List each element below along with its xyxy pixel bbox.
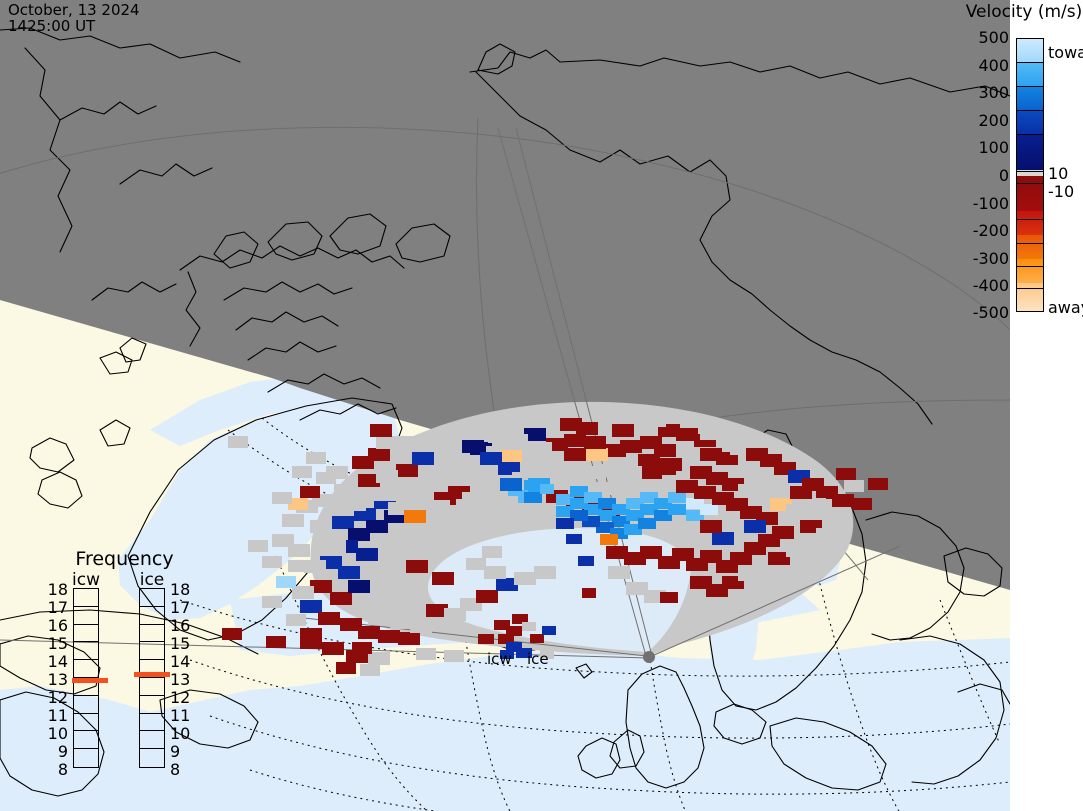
freq-tick-ice-14: 14 bbox=[170, 652, 196, 671]
cbar-divider-4 bbox=[1016, 134, 1044, 135]
frequency-legend-title: Frequency bbox=[52, 548, 197, 570]
cbar-tick-m300: -300 bbox=[963, 249, 1009, 268]
freq-tick-icw-18: 18 bbox=[42, 580, 68, 599]
cbar-tick-400: 400 bbox=[963, 56, 1009, 75]
station-label-ice: ice bbox=[527, 650, 549, 668]
cbar-divider-2 bbox=[1016, 86, 1044, 87]
freq-tick-icw-10: 10 bbox=[42, 724, 68, 743]
cbar-seg-200-100 bbox=[1017, 110, 1043, 134]
cbar-divider-5 bbox=[1016, 171, 1044, 172]
freq-tick-ice-13: 13 bbox=[170, 670, 196, 689]
cbar-tick-0: 0 bbox=[963, 166, 1009, 185]
timestamp-overlay: October, 13 20241425:00 UT bbox=[8, 2, 140, 34]
cbar-tick-m200: -200 bbox=[963, 221, 1009, 240]
freq-tick-ice-8: 8 bbox=[170, 760, 196, 779]
freq-tick-ice-12: 12 bbox=[170, 688, 196, 707]
colorbar-title: Velocity (m/s) bbox=[965, 2, 1083, 22]
cbar-tick-m100: -100 bbox=[963, 194, 1009, 213]
cbar-divider-10 bbox=[1016, 288, 1044, 289]
cbar-divider-9 bbox=[1016, 266, 1044, 267]
cbar-label-away: away bbox=[1048, 298, 1083, 317]
freq-tick-ice-16: 16 bbox=[170, 616, 196, 635]
cbar-seg-100-10 bbox=[1017, 134, 1043, 170]
freq-tick-icw-14: 14 bbox=[42, 652, 68, 671]
cbar-tick-300: 300 bbox=[963, 83, 1009, 102]
cbar-divider-8 bbox=[1016, 243, 1044, 244]
superdarn-velocity-map-window: icw ice October, 13 20241425:00 UT Frequ… bbox=[0, 0, 1083, 811]
station-label-icw: icw bbox=[487, 650, 512, 668]
map-panel[interactable]: icw ice October, 13 20241425:00 UT Frequ… bbox=[0, 0, 1010, 811]
freq-tick-icw-13: 13 bbox=[42, 670, 68, 689]
cbar-label-toward: toward bbox=[1048, 43, 1083, 62]
radar-origin-marker bbox=[643, 651, 655, 663]
freq-tick-ice-10: 10 bbox=[170, 724, 196, 743]
freq-tick-icw-8: 8 bbox=[42, 760, 68, 779]
cbar-label-inner-lower: -10 bbox=[1048, 182, 1074, 201]
cbar-divider-6 bbox=[1016, 183, 1044, 184]
freq-tick-ice-11: 11 bbox=[170, 706, 196, 725]
freq-tick-ice-17: 17 bbox=[170, 598, 196, 617]
timestamp-time: 1425:00 UT bbox=[8, 17, 95, 35]
cbar-label-inner-upper: 10 bbox=[1048, 164, 1068, 183]
velocity-colorbar[interactable] bbox=[1016, 38, 1044, 312]
frequency-bar-label-icw: icw bbox=[66, 570, 106, 590]
freq-tick-ice-18: 18 bbox=[170, 580, 196, 599]
frequency-bar-label-ice: ice bbox=[132, 570, 172, 590]
freq-tick-icw-16: 16 bbox=[42, 616, 68, 635]
cbar-seg-m200-m300 bbox=[1017, 235, 1043, 259]
freq-tick-icw-15: 15 bbox=[42, 634, 68, 653]
cbar-tick-500: 500 bbox=[963, 28, 1009, 47]
cbar-tick-100: 100 bbox=[963, 138, 1009, 157]
cbar-seg-m100-m200 bbox=[1017, 211, 1043, 235]
cbar-seg-m10-m100 bbox=[1017, 176, 1043, 212]
freq-tick-icw-12: 12 bbox=[42, 688, 68, 707]
cbar-tick-200: 200 bbox=[963, 111, 1009, 130]
cbar-tick-m400: -400 bbox=[963, 276, 1009, 295]
cbar-tick-m500: -500 bbox=[963, 303, 1009, 322]
cbar-seg-300-200 bbox=[1017, 87, 1043, 111]
cbar-seg-500-400 bbox=[1017, 39, 1043, 63]
frequency-legend: Frequency icw ice bbox=[52, 548, 197, 783]
freq-tick-ice-15: 15 bbox=[170, 634, 196, 653]
cbar-divider-3 bbox=[1016, 110, 1044, 111]
freq-tick-icw-9: 9 bbox=[42, 742, 68, 761]
frequency-bar-ice[interactable] bbox=[139, 588, 165, 768]
cbar-divider-7 bbox=[1016, 219, 1044, 220]
cbar-seg-m300-m400 bbox=[1017, 259, 1043, 283]
cbar-divider-1 bbox=[1016, 62, 1044, 63]
frequency-marker-icw bbox=[72, 678, 108, 683]
freq-tick-ice-9: 9 bbox=[170, 742, 196, 761]
cbar-seg-400-300 bbox=[1017, 63, 1043, 87]
frequency-marker-ice bbox=[134, 672, 170, 677]
freq-tick-icw-17: 17 bbox=[42, 598, 68, 617]
freq-tick-icw-11: 11 bbox=[42, 706, 68, 725]
